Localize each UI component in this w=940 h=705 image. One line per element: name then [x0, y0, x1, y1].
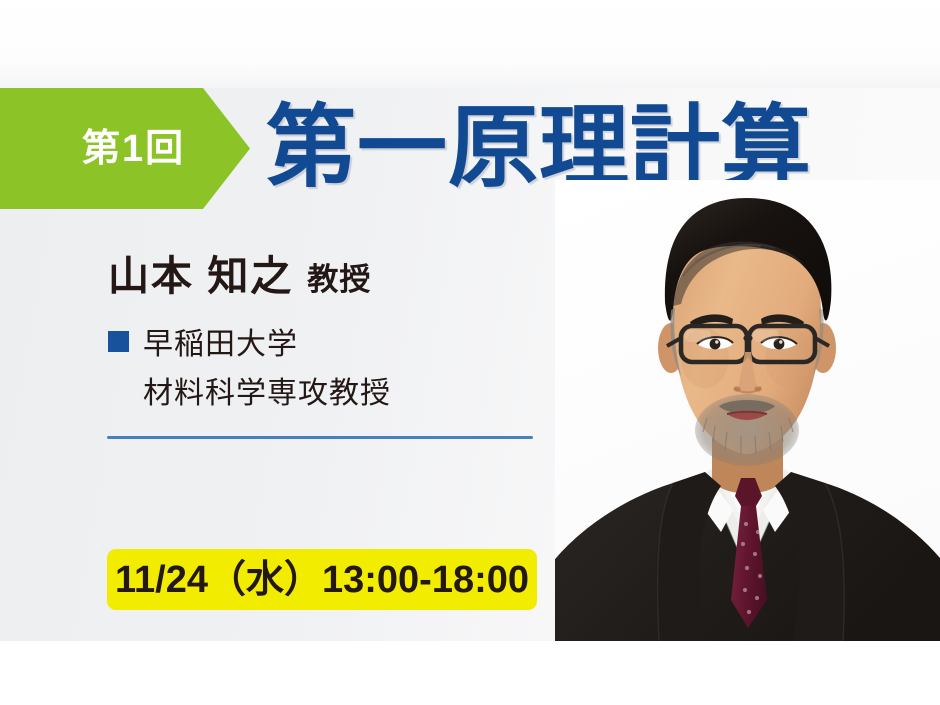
divider-rule [107, 436, 533, 439]
affiliation-text: 材料科学専攻教授 [143, 371, 391, 416]
speaker-name: 山本 知之 [108, 253, 293, 300]
affiliation-row: 材料科学専攻教授 [108, 371, 538, 416]
seminar-banner: 第1回 第一原理計算 山本 知之 教授 早稲田大学 材料科学専攻教授 11/24… [0, 0, 940, 705]
speaker-title: 教授 [307, 262, 371, 298]
episode-chevron: 第1回 [0, 88, 250, 209]
schedule-badge: 11/24（水）13:00-18:00 [107, 549, 537, 610]
affiliation-row: 早稲田大学 [108, 322, 538, 367]
speaker-portrait-photo [555, 180, 940, 641]
speaker-block: 山本 知之 教授 早稲田大学 材料科学専攻教授 [108, 253, 538, 416]
schedule-date-time: 11/24（水）13:00-18:00 [115, 561, 529, 599]
speaker-name-row: 山本 知之 教授 [108, 253, 538, 300]
affiliation-text: 早稲田大学 [143, 322, 298, 367]
bullet-spacer [108, 380, 129, 401]
affiliation-list: 早稲田大学 材料科学専攻教授 [108, 322, 538, 416]
portrait-illustration [555, 180, 940, 641]
left-pupil [710, 339, 721, 350]
square-bullet-icon [108, 331, 129, 352]
episode-label: 第1回 [82, 130, 185, 168]
top-white-strip [0, 0, 940, 88]
